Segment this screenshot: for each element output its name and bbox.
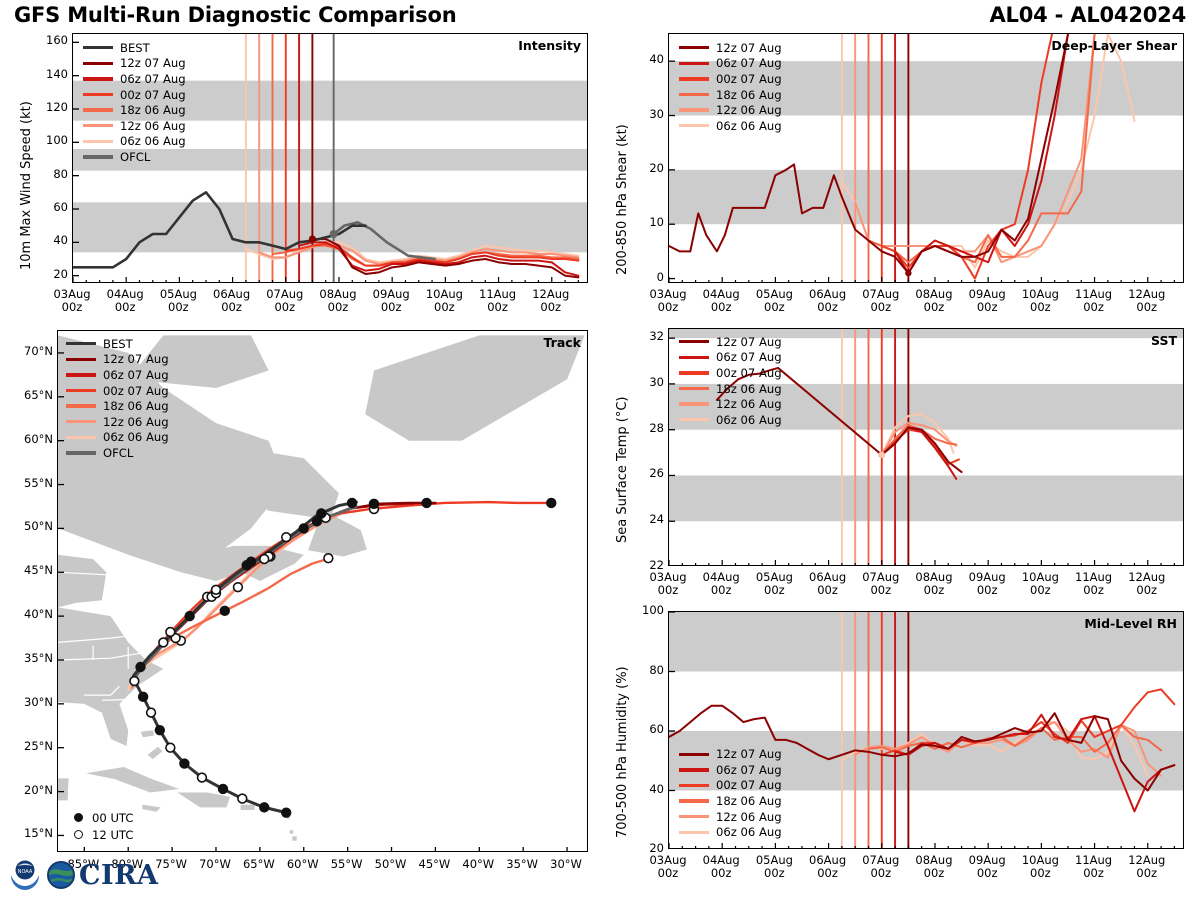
legend-rh: 12z 07 Aug06z 07 Aug00z 07 Aug18z 06 Aug… [679, 746, 782, 840]
y-tick-label: 40 [626, 782, 664, 796]
y-tick-label: 80 [30, 167, 68, 181]
x-tick-label: 04Aug00z [691, 854, 751, 880]
x-tick-date: 03Aug [53, 287, 90, 301]
x-tick-date: 08Aug [915, 853, 952, 867]
x-tick-hour: 00z [924, 583, 945, 597]
x-tick-label: 08Aug00z [904, 854, 964, 880]
x-tick-label: 06Aug00z [202, 288, 262, 314]
x-tick-date: 12Aug [1128, 287, 1165, 301]
y-tick-label: 30 [626, 375, 664, 389]
legend-item-06z-06-aug: 06z 06 Aug [679, 118, 782, 134]
x-tick-label: 05Aug00z [744, 854, 804, 880]
x-tick-hour: 00z [274, 300, 295, 314]
legend-item-18z-06-aug: 18z 06 Aug [679, 381, 782, 397]
legend-item-18z-06-aug: 18z 06 Aug [679, 87, 782, 103]
lat-tick-label: 30°N [5, 695, 53, 709]
legend-label: 06z 07 Aug [716, 763, 782, 777]
x-tick-date: 05Aug [756, 853, 793, 867]
legend-swatch [83, 140, 113, 143]
x-tick-date: 11Aug [479, 287, 516, 301]
y-tick-label: 100 [30, 133, 68, 147]
x-tick-label: 03Aug00z [638, 288, 698, 314]
x-tick-label: 10Aug00z [1010, 571, 1070, 597]
x-tick-date: 09Aug [969, 853, 1006, 867]
x-tick-hour: 00z [711, 583, 732, 597]
legend-item-06z-06-aug: 06z 06 Aug [83, 134, 186, 150]
lat-tick-label: 55°N [5, 476, 53, 490]
legend-item-06z-07-aug: 06z 07 Aug [679, 56, 782, 72]
legend-swatch [679, 387, 709, 390]
legend-item-best: BEST [66, 336, 169, 352]
x-tick-label: 09Aug00z [957, 571, 1017, 597]
x-tick-hour: 00z [764, 300, 785, 314]
legend-label: OFCL [120, 150, 150, 164]
x-tick-date: 07Aug [266, 287, 303, 301]
legend-item-06z-07-aug: 06z 07 Aug [66, 367, 169, 383]
x-tick-hour: 00z [711, 300, 732, 314]
legend-swatch [679, 340, 709, 343]
legend-label: 00z 07 Aug [120, 88, 186, 102]
legend-item-06z-06-aug: 06z 06 Aug [679, 824, 782, 840]
x-tick-hour: 00z [62, 300, 83, 314]
x-tick-date: 04Aug [703, 853, 740, 867]
x-tick-label: 05Aug00z [148, 288, 208, 314]
legend-item-12z-07-aug: 12z 07 Aug [83, 56, 186, 72]
x-tick-label: 03Aug00z [638, 571, 698, 597]
x-tick-hour: 00z [540, 300, 561, 314]
marker-legend-12utc: 12 UTC [64, 826, 133, 843]
panel-title-sst: SST [1151, 333, 1177, 348]
legend-swatch [66, 389, 96, 392]
legend-swatch [679, 418, 709, 421]
x-tick-hour: 00z [328, 300, 349, 314]
lat-tick-label: 15°N [5, 826, 53, 840]
x-tick-date: 12Aug [1128, 570, 1165, 584]
x-tick-date: 06Aug [809, 853, 846, 867]
x-tick-date: 09Aug [969, 570, 1006, 584]
marker-legend-00utc: 00 UTC [64, 809, 133, 826]
x-tick-date: 05Aug [160, 287, 197, 301]
x-tick-hour: 00z [658, 583, 679, 597]
panel-track: Track BEST12z 07 Aug06z 07 Aug00z 07 Aug… [57, 330, 588, 852]
x-tick-hour: 00z [434, 300, 455, 314]
legend-swatch [679, 108, 709, 111]
x-tick-label: 03Aug00z [42, 288, 102, 314]
x-tick-hour: 00z [870, 583, 891, 597]
x-tick-date: 10Aug [1022, 570, 1059, 584]
y-tick-label: 10 [626, 215, 664, 229]
axis-label-shear-y: 200-850 hPa Shear (kt) [615, 124, 630, 275]
legend-swatch [83, 77, 113, 80]
y-tick-label: 26 [626, 466, 664, 480]
legend-item-ofcl: OFCL [83, 149, 186, 165]
x-tick-label: 09Aug00z [957, 288, 1017, 314]
x-tick-label: 04Aug00z [691, 288, 751, 314]
legend-item-00z-07-aug: 00z 07 Aug [679, 365, 782, 381]
x-tick-label: 04Aug00z [691, 571, 751, 597]
legend-label: 18z 06 Aug [716, 382, 782, 396]
x-tick-label: 08Aug00z [308, 288, 368, 314]
x-tick-hour: 00z [381, 300, 402, 314]
x-tick-hour: 00z [711, 866, 732, 880]
x-tick-hour: 00z [1136, 866, 1157, 880]
open-circle-icon [74, 830, 83, 839]
x-tick-hour: 00z [977, 866, 998, 880]
x-tick-label: 03Aug00z [638, 854, 698, 880]
x-tick-label: 10Aug00z [1010, 288, 1070, 314]
x-tick-hour: 00z [870, 300, 891, 314]
y-tick-label: 30 [626, 107, 664, 121]
x-tick-hour: 00z [658, 300, 679, 314]
legend-label: 06z 06 Aug [716, 825, 782, 839]
x-tick-label: 06Aug00z [798, 288, 858, 314]
x-tick-hour: 00z [658, 866, 679, 880]
x-tick-date: 04Aug [703, 287, 740, 301]
legend-swatch [679, 124, 709, 127]
panel-sst: SST 12z 07 Aug06z 07 Aug00z 07 Aug18z 06… [668, 328, 1184, 566]
x-tick-hour: 00z [1083, 866, 1104, 880]
x-tick-hour: 00z [115, 300, 136, 314]
x-tick-date: 10Aug [426, 287, 463, 301]
legend-item-12z-06-aug: 12z 06 Aug [679, 396, 782, 412]
filled-circle-icon [74, 813, 83, 822]
storm-id-title: AL04 - AL042024 [989, 3, 1186, 27]
x-tick-label: 07Aug00z [851, 854, 911, 880]
legend-item-12z-07-aug: 12z 07 Aug [679, 746, 782, 762]
legend-item-18z-06-aug: 18z 06 Aug [83, 102, 186, 118]
legend-item-06z-06-aug: 06z 06 Aug [679, 412, 782, 428]
legend-label: 18z 06 Aug [716, 88, 782, 102]
x-tick-date: 03Aug [649, 853, 686, 867]
x-tick-label: 06Aug00z [798, 571, 858, 597]
axis-label-rh-y: 700-500 hPa Humidity (%) [615, 666, 630, 838]
lat-tick-label: 35°N [5, 651, 53, 665]
legend-swatch [66, 404, 96, 407]
x-tick-date: 06Aug [809, 287, 846, 301]
x-tick-hour: 00z [221, 300, 242, 314]
legend-swatch [679, 62, 709, 65]
y-tick-label: 160 [30, 33, 68, 47]
legend-label: 12z 07 Aug [103, 352, 169, 366]
legend-swatch [66, 436, 96, 439]
x-tick-label: 12Aug00z [1117, 571, 1177, 597]
x-tick-hour: 00z [1136, 300, 1157, 314]
panel-title-intensity: Intensity [518, 38, 581, 53]
legend-label: 06z 07 Aug [716, 350, 782, 364]
lat-tick-label: 20°N [5, 783, 53, 797]
x-tick-date: 10Aug [1022, 287, 1059, 301]
lat-tick-label: 25°N [5, 739, 53, 753]
y-tick-label: 40 [30, 233, 68, 247]
x-tick-hour: 00z [487, 300, 508, 314]
legend-item-00z-07-aug: 00z 07 Aug [83, 87, 186, 103]
legend-swatch [679, 356, 709, 359]
x-tick-hour: 00z [1083, 300, 1104, 314]
legend-item-12z-06-aug: 12z 06 Aug [83, 118, 186, 134]
x-tick-label: 07Aug00z [255, 288, 315, 314]
x-tick-hour: 00z [817, 300, 838, 314]
x-tick-hour: 00z [168, 300, 189, 314]
legend-label: 18z 06 Aug [716, 794, 782, 808]
x-tick-label: 12Aug00z [1117, 854, 1177, 880]
x-tick-date: 04Aug [703, 570, 740, 584]
cira-logo: NOAA CIRA [8, 858, 159, 892]
x-tick-date: 08Aug [915, 570, 952, 584]
y-tick-label: 100 [626, 603, 664, 617]
lat-tick-label: 70°N [5, 344, 53, 358]
legend-swatch [83, 46, 113, 49]
legend-item-06z-07-aug: 06z 07 Aug [679, 350, 782, 366]
y-tick-label: 140 [30, 67, 68, 81]
legend-swatch [679, 768, 709, 771]
legend-label: 12z 06 Aug [716, 103, 782, 117]
legend-shear: 12z 07 Aug06z 07 Aug00z 07 Aug18z 06 Aug… [679, 40, 782, 134]
x-tick-hour: 00z [1030, 866, 1051, 880]
legend-label: 06z 06 Aug [103, 430, 169, 444]
lat-tick-label: 40°N [5, 607, 53, 621]
legend-item-12z-06-aug: 12z 06 Aug [679, 809, 782, 825]
x-tick-date: 11Aug [1075, 287, 1112, 301]
x-tick-label: 08Aug00z [904, 288, 964, 314]
x-tick-date: 11Aug [1075, 570, 1112, 584]
legend-item-12z-06-aug: 12z 06 Aug [679, 102, 782, 118]
page-title: GFS Multi-Run Diagnostic Comparison [14, 3, 456, 27]
legend-item-00z-07-aug: 00z 07 Aug [679, 778, 782, 794]
legend-swatch [679, 831, 709, 834]
legend-label: 12z 07 Aug [120, 56, 186, 70]
legend-swatch [66, 420, 96, 423]
y-tick-label: 32 [626, 329, 664, 343]
legend-label: 18z 06 Aug [103, 399, 169, 413]
y-tick-label: 40 [626, 52, 664, 66]
x-tick-label: 11Aug00z [1064, 288, 1124, 314]
legend-item-12z-06-aug: 12z 06 Aug [66, 414, 169, 430]
x-tick-label: 07Aug00z [851, 288, 911, 314]
legend-item-12z-07-aug: 12z 07 Aug [66, 352, 169, 368]
x-tick-date: 06Aug [213, 287, 250, 301]
legend-label: 12z 06 Aug [120, 119, 186, 133]
x-tick-label: 10Aug00z [1010, 854, 1070, 880]
x-tick-hour: 00z [924, 866, 945, 880]
panel-title-shear: Deep-Layer Shear [1051, 38, 1177, 53]
panel-title-track: Track [544, 335, 581, 350]
legend-label: 00z 07 Aug [716, 72, 782, 86]
x-tick-label: 12Aug00z [1117, 288, 1177, 314]
legend-label: 18z 06 Aug [120, 103, 186, 117]
x-tick-label: 04Aug00z [95, 288, 155, 314]
legend-swatch [679, 799, 709, 802]
legend-intensity: BEST12z 07 Aug06z 07 Aug00z 07 Aug18z 06… [83, 40, 186, 165]
x-tick-label: 09Aug00z [957, 854, 1017, 880]
panel-shear: Deep-Layer Shear 12z 07 Aug06z 07 Aug00z… [668, 33, 1184, 283]
x-tick-date: 09Aug [373, 287, 410, 301]
panel-rh: Mid-Level RH 12z 07 Aug06z 07 Aug00z 07 … [668, 611, 1184, 849]
x-tick-hour: 00z [1030, 583, 1051, 597]
legend-swatch [66, 358, 96, 361]
legend-swatch [679, 784, 709, 787]
legend-label: 00z 07 Aug [716, 366, 782, 380]
x-tick-date: 09Aug [969, 287, 1006, 301]
x-tick-date: 03Aug [649, 570, 686, 584]
legend-item-18z-06-aug: 18z 06 Aug [679, 793, 782, 809]
legend-sst: 12z 07 Aug06z 07 Aug00z 07 Aug18z 06 Aug… [679, 334, 782, 428]
y-tick-label: 0 [626, 270, 664, 284]
lat-tick-label: 65°N [5, 388, 53, 402]
noaa-icon: NOAA [8, 858, 42, 892]
x-tick-date: 10Aug [1022, 853, 1059, 867]
legend-swatch [83, 62, 113, 65]
x-tick-label: 11Aug00z [1064, 571, 1124, 597]
x-tick-label: 12Aug00z [521, 288, 581, 314]
legend-swatch [679, 371, 709, 374]
legend-label: 06z 06 Aug [716, 119, 782, 133]
legend-item-06z-07-aug: 06z 07 Aug [83, 71, 186, 87]
x-tick-label: 07Aug00z [851, 571, 911, 597]
x-tick-date: 08Aug [915, 287, 952, 301]
x-tick-date: 03Aug [649, 287, 686, 301]
x-tick-label: 09Aug00z [361, 288, 421, 314]
legend-swatch [83, 93, 113, 96]
legend-swatch [679, 46, 709, 49]
legend-item-00z-07-aug: 00z 07 Aug [679, 71, 782, 87]
cira-wordmark: CIRA [79, 860, 159, 891]
legend-swatch [83, 124, 113, 127]
legend-swatch [679, 753, 709, 756]
y-tick-label: 60 [626, 722, 664, 736]
lon-tick-label: 30°W [540, 858, 592, 871]
legend-label: 12z 07 Aug [716, 335, 782, 349]
x-tick-date: 12Aug [532, 287, 569, 301]
legend-item-00z-07-aug: 00z 07 Aug [66, 383, 169, 399]
legend-label: 06z 07 Aug [120, 72, 186, 86]
y-tick-label: 60 [30, 200, 68, 214]
panel-title-rh: Mid-Level RH [1084, 616, 1177, 631]
legend-label: 06z 07 Aug [103, 368, 169, 382]
x-tick-hour: 00z [1136, 583, 1157, 597]
svg-text:NOAA: NOAA [18, 869, 33, 875]
lat-tick-label: 50°N [5, 519, 53, 533]
legend-swatch [66, 451, 96, 454]
y-tick-label: 80 [626, 663, 664, 677]
diagnostic-comparison-page: GFS Multi-Run Diagnostic Comparison AL04… [0, 0, 1200, 900]
legend-swatch [66, 342, 96, 345]
legend-swatch [679, 77, 709, 80]
marker-legend-label: 12 UTC [92, 828, 133, 842]
x-tick-label: 06Aug00z [798, 854, 858, 880]
x-tick-date: 05Aug [756, 570, 793, 584]
x-tick-label: 05Aug00z [744, 571, 804, 597]
legend-label: BEST [103, 337, 133, 351]
legend-item-best: BEST [83, 40, 186, 56]
x-tick-hour: 00z [764, 583, 785, 597]
legend-swatch [66, 373, 96, 376]
legend-item-ofcl: OFCL [66, 445, 169, 461]
x-tick-date: 05Aug [756, 287, 793, 301]
legend-swatch [679, 815, 709, 818]
x-tick-hour: 00z [977, 300, 998, 314]
x-tick-date: 04Aug [107, 287, 144, 301]
x-tick-label: 11Aug00z [1064, 854, 1124, 880]
legend-swatch [679, 402, 709, 405]
marker-legend-label: 00 UTC [92, 811, 133, 825]
legend-label: 00z 07 Aug [103, 384, 169, 398]
x-tick-hour: 00z [924, 300, 945, 314]
legend-label: 06z 06 Aug [716, 413, 782, 427]
x-tick-hour: 00z [977, 583, 998, 597]
x-tick-date: 08Aug [319, 287, 356, 301]
legend-item-06z-06-aug: 06z 06 Aug [66, 430, 169, 446]
x-tick-hour: 00z [1083, 583, 1104, 597]
globe-icon [45, 859, 77, 891]
x-tick-date: 06Aug [809, 570, 846, 584]
legend-swatch [83, 155, 113, 158]
legend-track: BEST12z 07 Aug06z 07 Aug00z 07 Aug18z 06… [66, 336, 169, 461]
x-tick-hour: 00z [870, 866, 891, 880]
x-tick-hour: 00z [764, 866, 785, 880]
x-tick-label: 08Aug00z [904, 571, 964, 597]
panel-intensity: Intensity BEST12z 07 Aug06z 07 Aug00z 07… [72, 33, 588, 283]
legend-label: 12z 06 Aug [716, 397, 782, 411]
y-tick-label: 20 [30, 267, 68, 281]
legend-label: 12z 06 Aug [103, 415, 169, 429]
legend-item-12z-07-aug: 12z 07 Aug [679, 334, 782, 350]
legend-label: BEST [120, 41, 150, 55]
lat-tick-label: 45°N [5, 563, 53, 577]
x-tick-hour: 00z [1030, 300, 1051, 314]
x-tick-label: 10Aug00z [414, 288, 474, 314]
x-tick-hour: 00z [817, 583, 838, 597]
legend-label: 00z 07 Aug [716, 778, 782, 792]
y-tick-label: 28 [626, 421, 664, 435]
x-tick-label: 05Aug00z [744, 288, 804, 314]
x-tick-date: 07Aug [862, 570, 899, 584]
legend-label: 12z 07 Aug [716, 41, 782, 55]
legend-label: 12z 06 Aug [716, 810, 782, 824]
legend-track-markers: 00 UTC12 UTC [64, 809, 133, 843]
x-tick-date: 12Aug [1128, 853, 1165, 867]
legend-swatch [83, 108, 113, 111]
legend-item-06z-07-aug: 06z 07 Aug [679, 762, 782, 778]
y-tick-label: 24 [626, 512, 664, 526]
x-tick-hour: 00z [817, 866, 838, 880]
legend-label: OFCL [103, 446, 133, 460]
legend-label: 12z 07 Aug [716, 747, 782, 761]
x-tick-date: 07Aug [862, 853, 899, 867]
x-tick-date: 11Aug [1075, 853, 1112, 867]
legend-item-18z-06-aug: 18z 06 Aug [66, 398, 169, 414]
x-tick-date: 07Aug [862, 287, 899, 301]
y-tick-label: 20 [626, 161, 664, 175]
lat-tick-label: 60°N [5, 432, 53, 446]
legend-label: 06z 06 Aug [120, 134, 186, 148]
legend-item-12z-07-aug: 12z 07 Aug [679, 40, 782, 56]
y-tick-label: 120 [30, 100, 68, 114]
legend-swatch [679, 93, 709, 96]
x-tick-label: 11Aug00z [468, 288, 528, 314]
legend-label: 06z 07 Aug [716, 56, 782, 70]
